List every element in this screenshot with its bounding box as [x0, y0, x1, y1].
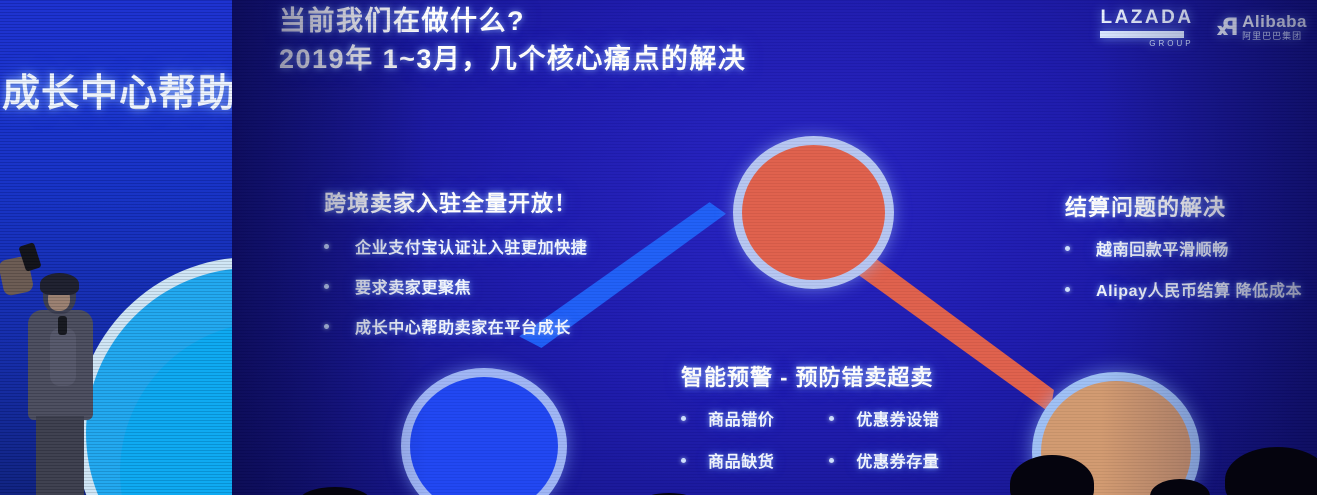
- circle-node-red: [733, 136, 894, 289]
- page-subtitle: 2019年 1~3月，几个核心痛点的解决: [279, 40, 1039, 78]
- page-title: 当前我们在做什么?: [279, 2, 1039, 40]
- bullet-label: 优惠券存量: [856, 448, 939, 472]
- bullet-dot-icon: [324, 324, 329, 329]
- presenter-hair: [40, 273, 79, 295]
- bullet-label: 要求卖家更聚焦: [355, 274, 471, 298]
- slide-canvas: 当前我们在做什么? 2019年 1~3月，几个核心痛点的解决 LAZADA GR…: [232, 0, 1317, 495]
- bullet-label: 越南回款平滑顺畅: [1096, 236, 1229, 260]
- bullet-dot-icon: [324, 284, 329, 289]
- list-item: 越南回款平滑顺畅: [1065, 236, 1302, 260]
- microphone-icon: [58, 316, 67, 335]
- bullet-label: 商品错价: [708, 406, 774, 430]
- content-block-smart-alert: 智能预警 - 预防错卖超卖 商品错价 优惠券设错 商品缺货 优惠券存量: [681, 360, 939, 490]
- content-block-cross-border-sellers: 跨境卖家入驻全量开放！ 企业支付宝认证让入驻更加快捷 要求卖家更聚焦 成长中心帮…: [324, 186, 587, 354]
- alibaba-logo: ℞ Alibaba 阿里巴巴集团: [1216, 13, 1307, 43]
- bullet-label: 优惠券设错: [856, 406, 939, 430]
- list-item: 商品缺货: [681, 448, 774, 472]
- bullet-label: Alipay人民币结算 降低成本: [1096, 277, 1302, 301]
- bullet-dot-icon: [829, 458, 834, 463]
- bullet-dot-icon: [1065, 287, 1070, 292]
- block-heading: 智能预警 - 预防错卖超卖: [681, 360, 939, 392]
- bullet-list: 企业支付宝认证让入驻更加快捷 要求卖家更聚焦 成长中心帮助卖家在平台成长: [324, 234, 587, 338]
- list-item: 企业支付宝认证让入驻更加快捷: [324, 234, 587, 258]
- alibaba-mark-icon: ℞: [1216, 16, 1238, 40]
- block-heading: 结算问题的解决: [1065, 190, 1302, 222]
- lazada-bar: [1100, 31, 1184, 38]
- alibaba-names: Alibaba 阿里巴巴集团: [1242, 13, 1307, 43]
- bullet-list: 越南回款平滑顺畅 Alipay人民币结算 降低成本: [1065, 236, 1302, 301]
- circle-node-orange: [1032, 372, 1200, 495]
- presenter-silhouette: [24, 276, 98, 495]
- lazada-wordmark: LAZADA: [1100, 7, 1193, 29]
- list-item: 优惠券存量: [829, 448, 939, 472]
- alibaba-wordmark-cn: 阿里巴巴集团: [1242, 30, 1307, 43]
- logo-group: LAZADA GROUP ℞ Alibaba 阿里巴巴集团: [1100, 7, 1307, 48]
- stage-led-wall: 成长中心帮助卖: [0, 0, 236, 495]
- list-item: 要求卖家更聚焦: [324, 274, 587, 298]
- circle-node-blue: [401, 368, 567, 495]
- list-item: 优惠券设错: [829, 406, 939, 430]
- bullet-dot-icon: [829, 416, 834, 421]
- lazada-logo: LAZADA GROUP: [1100, 7, 1193, 48]
- alibaba-wordmark-en: Alibaba: [1242, 13, 1307, 30]
- bullet-label: 成长中心帮助卖家在平台成长: [355, 314, 571, 338]
- bullet-dot-icon: [1065, 246, 1070, 251]
- bullet-dot-icon: [324, 244, 329, 249]
- list-item: 商品错价: [681, 406, 774, 430]
- presenter-legs: [36, 416, 84, 495]
- presentation-photo: 成长中心帮助卖 当前我们在做什么? 2019年 1~3月，几个核心痛点的解决 L…: [0, 0, 1317, 495]
- lazada-sublabel: GROUP: [1149, 39, 1193, 48]
- slide-header: 当前我们在做什么? 2019年 1~3月，几个核心痛点的解决: [279, 2, 1039, 79]
- content-block-settlement-solution: 结算问题的解决 越南回款平滑顺畅 Alipay人民币结算 降低成本: [1065, 190, 1302, 318]
- bullet-dot-icon: [681, 416, 686, 421]
- bullet-label: 商品缺货: [708, 448, 774, 472]
- presenter-arm: [50, 328, 76, 386]
- block-heading: 跨境卖家入驻全量开放！: [324, 186, 587, 218]
- bullet-list: 商品错价 优惠券设错 商品缺货 优惠券存量: [681, 406, 939, 490]
- list-item: 成长中心帮助卖家在平台成长: [324, 314, 587, 338]
- bullet-dot-icon: [681, 458, 686, 463]
- list-item: Alipay人民币结算 降低成本: [1065, 277, 1302, 301]
- bullet-label: 企业支付宝认证让入驻更加快捷: [355, 234, 587, 258]
- stage-overlay-headline: 成长中心帮助卖: [2, 62, 236, 117]
